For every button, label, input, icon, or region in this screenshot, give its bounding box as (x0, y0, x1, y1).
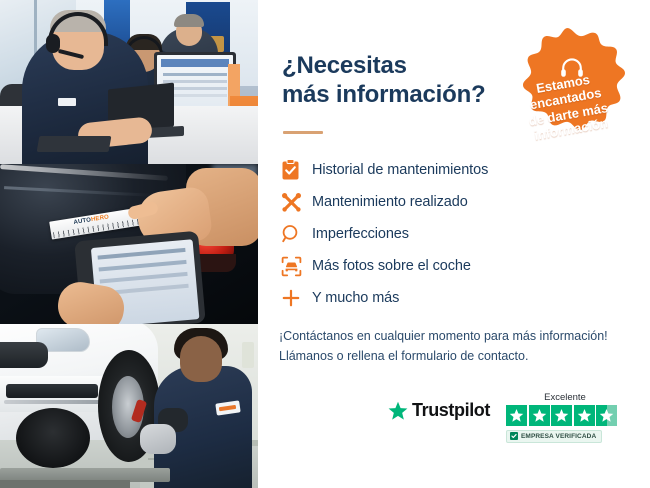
headline-line-1: ¿Necesitas (282, 52, 407, 79)
support-badge: Estamos encantados de darte más informac… (497, 26, 637, 166)
car-inspection-ruler-photo: AUTOHERO (0, 164, 258, 324)
trustpilot-rating: Excelente EMPRESA VERIFICADA (506, 392, 624, 444)
feature-label: Y mucho más (312, 290, 399, 306)
workshop-technician-photo (0, 324, 258, 488)
feature-item-maintenance-done: Mantenimiento realizado (278, 186, 638, 218)
rating-label: Excelente (506, 392, 624, 403)
contact-text: ¡Contáctanos en cualquier momento para m… (279, 326, 639, 367)
headline-line-2: más información? (282, 81, 522, 110)
star-5-half (596, 405, 617, 426)
feature-label: Mantenimiento realizado (312, 194, 468, 210)
feature-item-more-photos: Más fotos sobre el coche (278, 250, 638, 282)
star-rating (506, 405, 624, 426)
feature-item-service-history: Historial de mantenimientos (278, 154, 638, 186)
photo-column: AUTOHERO (0, 0, 258, 488)
trustpilot-widget[interactable]: Trustpilot Excelente EMPRESA VERIFICADA (388, 392, 628, 450)
promo-banner: AUTOHERO ¿Necesitas (0, 0, 650, 488)
car-photo-frame-icon (278, 252, 312, 280)
feature-item-more: Y mucho más (278, 282, 638, 314)
star-3 (551, 405, 572, 426)
tools-cross-icon (278, 188, 312, 216)
feature-label: Imperfecciones (312, 226, 409, 242)
star-2 (529, 405, 550, 426)
status-badge: EMPRESA VERIFICADA (506, 430, 602, 443)
star-1 (506, 405, 527, 426)
verified-label: EMPRESA VERIFICADA (521, 433, 596, 440)
call-center-agents-photo (0, 0, 258, 164)
feature-label: Más fotos sobre el coche (312, 258, 471, 274)
trustpilot-logo[interactable]: Trustpilot (388, 400, 490, 421)
check-box-icon (510, 432, 518, 440)
trustpilot-star-icon (388, 401, 408, 421)
clipboard-check-icon (278, 156, 312, 184)
feature-list: Historial de mantenimientos M (278, 154, 638, 314)
feature-item-imperfections: Imperfecciones (278, 218, 638, 250)
contact-line-1: ¡Contáctanos en cualquier momento para m… (279, 326, 639, 346)
feature-label: Historial de mantenimientos (312, 162, 488, 178)
contact-line-2: Llámanos o rellena el formulario de cont… (279, 346, 639, 366)
title-divider (283, 131, 323, 134)
magnifier-icon (278, 220, 312, 248)
plus-icon (278, 284, 312, 312)
trustpilot-wordmark: Trustpilot (412, 400, 490, 421)
star-4 (574, 405, 595, 426)
page-title: ¿Necesitas más información? (282, 52, 522, 110)
